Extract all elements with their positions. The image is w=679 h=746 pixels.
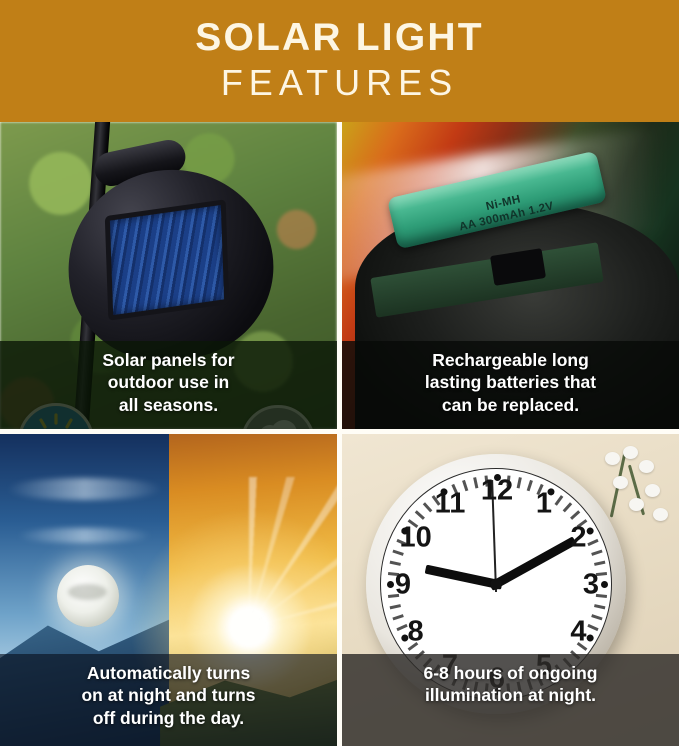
clock-minute-tick [396, 624, 407, 631]
clock-hour-marker [601, 581, 608, 588]
clock-minute-tick [423, 502, 433, 512]
clock-minute-tick [596, 572, 607, 576]
minute-hand [489, 536, 577, 590]
page-subtitle: FEATURES [221, 62, 458, 103]
page-title: SOLAR LIGHT [195, 18, 484, 59]
feature-panel-runtime: 121234567891011 6-8 HOURS 6-8 hours of o… [342, 434, 679, 746]
caption-line: outdoor use in [10, 371, 327, 393]
clock-minute-tick [392, 614, 403, 620]
clock-minute-tick [390, 561, 401, 566]
clock-minute-tick [563, 502, 573, 512]
clock-minute-tick [527, 480, 533, 491]
clock-minute-tick [473, 477, 478, 488]
feature-panel-grid: Solar panels for outdoor use in all seas… [0, 122, 679, 746]
feature-panel-solar-panels: Solar panels for outdoor use in all seas… [0, 122, 337, 429]
clock-minute-tick [554, 495, 563, 506]
caption-line: Solar panels for [10, 349, 327, 371]
caption-line: 6-8 hours of ongoing [352, 662, 669, 684]
clock-hour-marker [494, 474, 501, 481]
clock-hub [491, 579, 502, 590]
clock-minute-tick [517, 477, 522, 488]
caption-day-night: Automatically turns on at night and turn… [0, 654, 337, 746]
clock-minute-tick [570, 510, 580, 520]
caption-runtime: 6-8 hours of ongoing illumination at nig… [342, 654, 679, 746]
clock-hour-marker [585, 526, 595, 536]
caption-line: all seasons. [10, 394, 327, 416]
clock-minute-tick [390, 604, 401, 609]
clock-hour-marker [387, 581, 394, 588]
caption-solar-panels: Solar panels for outdoor use in all seas… [0, 341, 337, 429]
clock-minute-tick [587, 624, 598, 631]
clock-hour-marker [585, 633, 595, 643]
caption-batteries: Rechargeable long lasting batteries that… [342, 341, 679, 429]
solar-light-features-infographic: SOLAR LIGHT FEATURES [0, 0, 679, 746]
clock-minute-tick [587, 539, 598, 546]
caption-line: lasting batteries that [352, 371, 669, 393]
feature-panel-day-night: Automatically turns on at night and turn… [0, 434, 337, 746]
feature-panel-batteries: Ni-MH AA 300mAh 1.2V Rechargeable long l… [342, 122, 679, 429]
clock-minute-tick [415, 510, 425, 520]
caption-line: on at night and turns [10, 684, 327, 706]
clock-minute-tick [594, 561, 605, 566]
solar-cell [105, 199, 229, 320]
clock-minute-tick [594, 604, 605, 609]
clock-minute-tick [591, 614, 602, 620]
caption-line: Rechargeable long [352, 349, 669, 371]
clock-minute-tick [591, 550, 602, 556]
caption-line: can be replaced. [352, 394, 669, 416]
header-banner: SOLAR LIGHT FEATURES [0, 0, 679, 122]
caption-line: off during the day. [10, 707, 327, 729]
caption-line: illumination at night. [352, 684, 669, 706]
caption-line: Automatically turns [10, 662, 327, 684]
clock-minute-tick [388, 572, 399, 576]
